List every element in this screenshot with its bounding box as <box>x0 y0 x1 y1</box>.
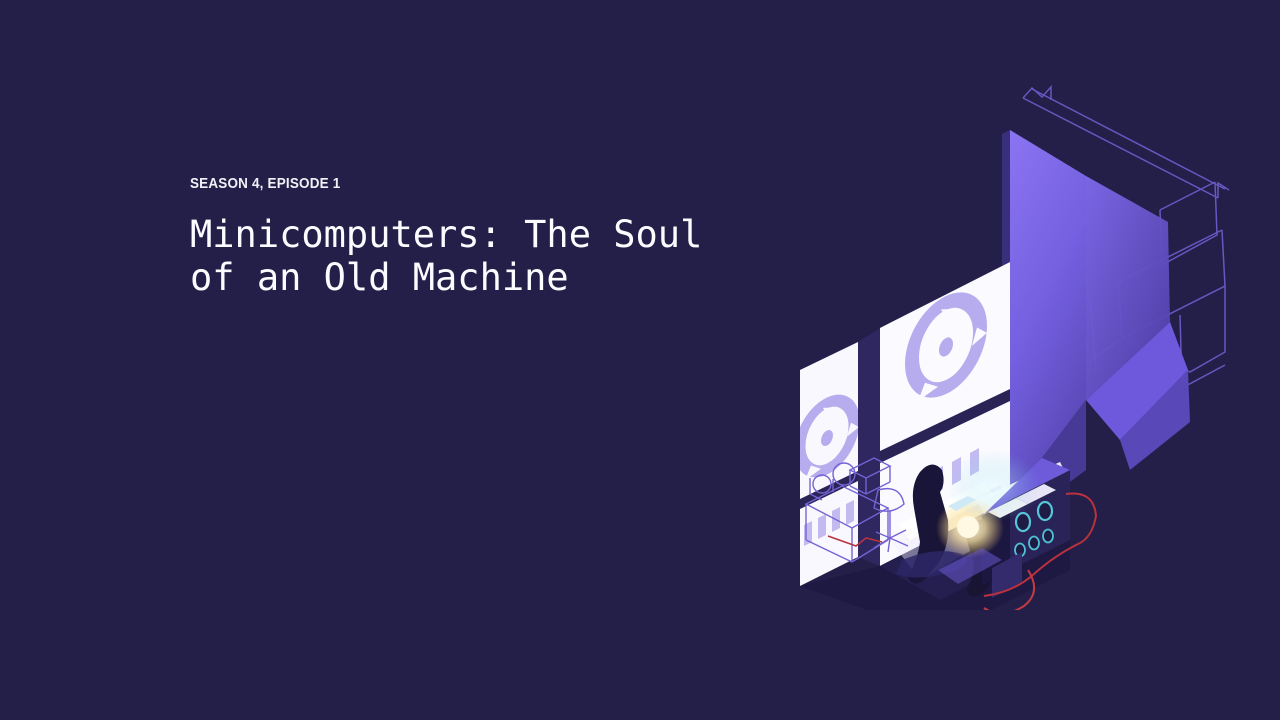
hero-text-block: SEASON 4, EPISODE 1 Minicomputers: The S… <box>190 176 750 299</box>
billboard-panel-left <box>798 342 860 586</box>
roof-wedge <box>1002 130 1190 522</box>
hero-canvas: SEASON 4, EPISODE 1 Minicomputers: The S… <box>0 0 1280 720</box>
panel-gap <box>858 328 880 566</box>
episode-eyebrow: SEASON 4, EPISODE 1 <box>190 176 711 192</box>
cool-glow <box>948 450 1040 522</box>
lamp-bulb <box>957 516 979 538</box>
isometric-computer-room-illustration <box>770 70 1230 610</box>
page-title: Minicomputers: The Soul of an Old Machin… <box>190 213 750 299</box>
